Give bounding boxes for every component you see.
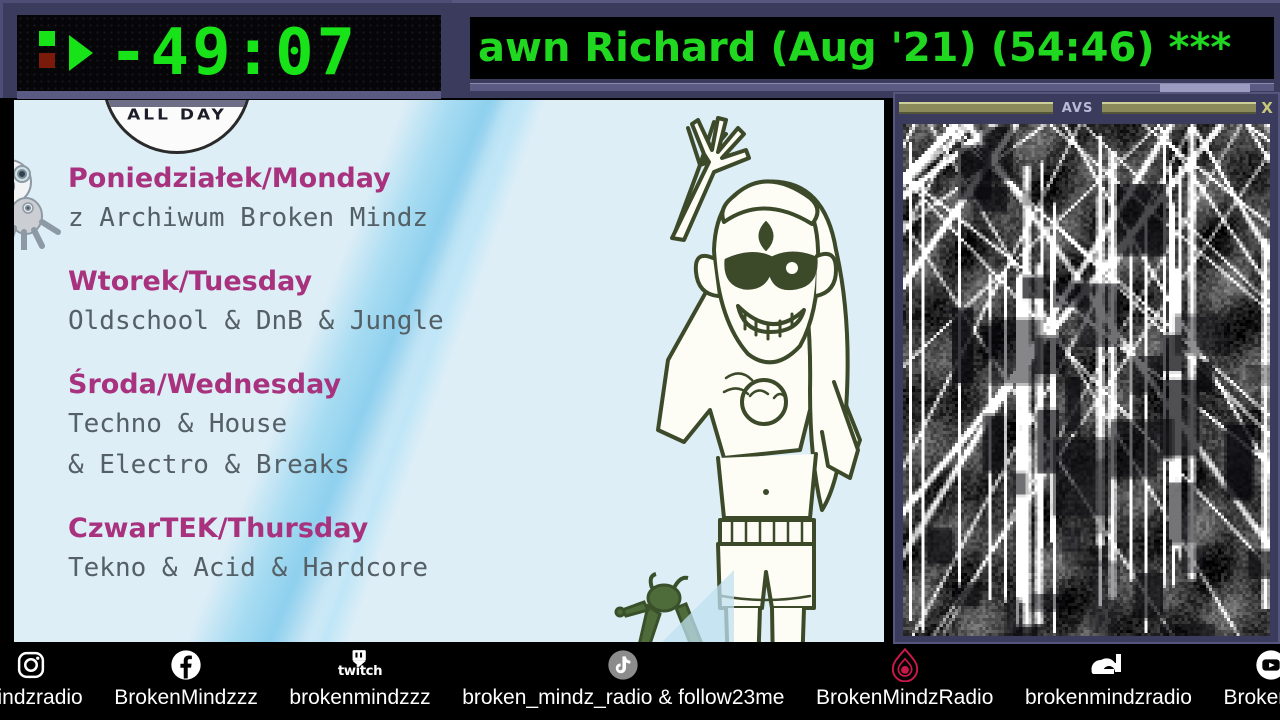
social-handle: brokenmindzzz: [289, 684, 430, 712]
instagram-icon: [16, 648, 46, 682]
close-icon[interactable]: X: [1260, 100, 1274, 116]
weekly-schedule: Poniedziałek/Monday z Archiwum Broken Mi…: [68, 160, 628, 589]
avs-title-bar-right-decor: [1102, 102, 1256, 114]
social-link-instagram[interactable]: mindzradio: [0, 648, 85, 712]
schedule-day: Poniedziałek/Monday: [68, 160, 628, 198]
stream-overlay: -49:07 awn Richard (Aug '21) (54:46) ***…: [0, 0, 1280, 720]
social-link-facebook[interactable]: BrokenMindzzz: [112, 648, 260, 712]
social-link-twitch[interactable]: twitch brokenmindzzz: [287, 648, 432, 712]
social-link-tiktok[interactable]: broken_mindz_radio & follow23me: [460, 648, 786, 712]
social-link-bandcamp[interactable]: BrokenMindzRadio: [814, 648, 995, 712]
avs-title-bar-left-decor: [899, 102, 1053, 114]
schedule-desc: & Electro & Breaks: [68, 445, 628, 486]
volume-slider[interactable]: [470, 83, 1274, 91]
avs-visualizer-window: AVS X: [893, 92, 1280, 644]
social-handle: broken_mindz_radio & follow23me: [462, 684, 784, 712]
social-handle: BrokenMindzzz: [114, 684, 258, 712]
player-main-window: -49:07: [0, 0, 452, 98]
social-handle: BrokenMindzRadio: [816, 684, 993, 712]
twitch-icon: twitch: [331, 648, 389, 682]
youtube-icon: [1255, 648, 1280, 682]
time-display[interactable]: -49:07: [109, 17, 358, 89]
social-links-bar: mindzradio BrokenMindzzz twitch brokenmi…: [0, 644, 1280, 720]
seek-bar[interactable]: [17, 91, 441, 99]
winamp-player: -49:07 awn Richard (Aug '21) (54:46) ***: [0, 0, 1280, 98]
avs-visualizer-canvas[interactable]: [903, 124, 1270, 636]
play-icon[interactable]: [69, 35, 93, 71]
schedule-desc: Oldschool & DnB & Jungle: [68, 301, 628, 342]
logo-text: ALL DAY: [105, 106, 249, 124]
schedule-entry: CzwarTEK/Thursday Tekno & Acid & Hardcor…: [68, 510, 628, 589]
social-link-mixcloud[interactable]: brokenmindzradio: [1023, 648, 1194, 712]
schedule-desc: Techno & House: [68, 404, 628, 445]
social-handle: Broken Mi: [1223, 684, 1280, 712]
schedule-entry: Poniedziałek/Monday z Archiwum Broken Mi…: [68, 160, 628, 239]
player-title-window: awn Richard (Aug '21) (54:46) ***: [452, 0, 1280, 98]
player-lcd-display: -49:07: [17, 15, 441, 91]
mascot-character-illustration: [614, 110, 884, 642]
avs-title-bar[interactable]: AVS X: [895, 94, 1278, 122]
bandcamp-icon: [890, 648, 920, 682]
facebook-icon: [170, 648, 202, 682]
schedule-entry: Środa/Wednesday Techno & House & Electro…: [68, 366, 628, 486]
track-title-display: awn Richard (Aug '21) (54:46) ***: [470, 17, 1274, 79]
social-link-youtube[interactable]: Broken Mi: [1221, 648, 1280, 712]
flying-creature-illustration: [14, 120, 64, 250]
schedule-entry: Wtorek/Tuesday Oldschool & DnB & Jungle: [68, 263, 628, 342]
show-artwork-panel: ALL DAY Poniedziałek/Monday z Archiwum B…: [14, 100, 884, 642]
track-title-text: awn Richard (Aug '21) (54:46) ***: [478, 25, 1231, 71]
schedule-desc: z Archiwum Broken Mindz: [68, 198, 628, 239]
schedule-day: CzwarTEK/Thursday: [68, 510, 628, 548]
schedule-day: Wtorek/Tuesday: [68, 263, 628, 301]
mixcloud-icon: [1088, 648, 1128, 682]
social-handle: mindzradio: [0, 684, 83, 712]
tiktok-icon: [607, 648, 639, 682]
social-handle: brokenmindzradio: [1025, 684, 1192, 712]
volume-slider-knob[interactable]: [1160, 84, 1250, 92]
stereo-indicator: [39, 31, 55, 46]
mono-indicator: [39, 53, 55, 68]
avs-title-label: AVS: [1057, 101, 1099, 116]
schedule-day: Środa/Wednesday: [68, 366, 628, 404]
svg-text:twitch: twitch: [338, 664, 382, 679]
schedule-desc: Tekno & Acid & Hardcore: [68, 548, 628, 589]
